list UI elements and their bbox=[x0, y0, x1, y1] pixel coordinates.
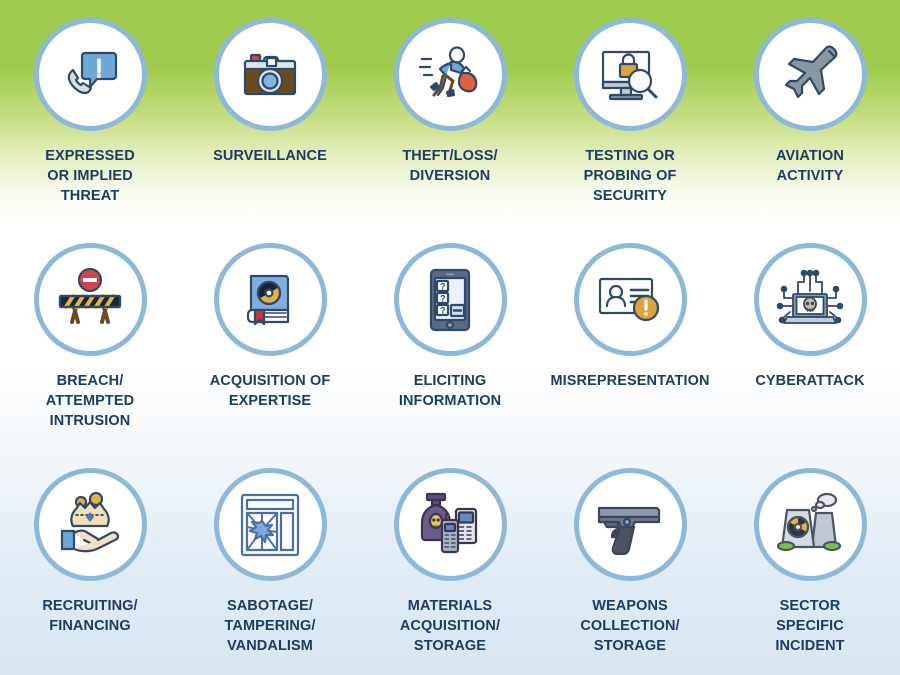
indicator-cell-recruiting-financing[interactable]: RECRUITING/ FINANCING bbox=[0, 450, 180, 675]
indicator-cell-sabotage-tampering-vandalism[interactable]: SABOTAGE/ TAMPERING/ VANDALISM bbox=[180, 450, 360, 675]
book-radiation-icon bbox=[234, 264, 306, 336]
laptop-skull-network-icon bbox=[774, 264, 846, 336]
indicator-label: EXPRESSED OR IMPLIED THREAT bbox=[45, 146, 135, 206]
svg-text:?: ? bbox=[440, 305, 446, 315]
icon-circle bbox=[394, 468, 507, 581]
nuclear-power-plant-icon bbox=[774, 489, 846, 561]
icon-circle bbox=[754, 18, 867, 131]
indicator-cell-cyberattack[interactable]: CYBERATTACK bbox=[720, 225, 900, 450]
icon-circle bbox=[34, 468, 147, 581]
indicator-label: ELICITING INFORMATION bbox=[399, 371, 501, 411]
indicator-grid: EXPRESSED OR IMPLIED THREAT SURVE bbox=[0, 0, 900, 675]
running-thief-with-bag-icon bbox=[414, 39, 486, 111]
poison-bottle-phone-radio-icon bbox=[414, 489, 486, 561]
indicator-label: BREACH/ ATTEMPTED INTRUSION bbox=[46, 371, 134, 431]
icon-circle bbox=[34, 18, 147, 131]
indicator-cell-breach-attempted-intrusion[interactable]: BREACH/ ATTEMPTED INTRUSION bbox=[0, 225, 180, 450]
indicator-label: MISREPRESENTATION bbox=[550, 371, 709, 391]
indicator-label: ACQUISITION OF EXPERTISE bbox=[210, 371, 331, 411]
tablet-question-marks-icon: ? ? ? bbox=[414, 264, 486, 336]
indicator-cell-theft-loss-diversion[interactable]: THEFT/LOSS/ DIVERSION bbox=[360, 0, 540, 225]
indicator-cell-aviation-activity[interactable]: AVIATION ACTIVITY bbox=[720, 0, 900, 225]
icon-circle bbox=[754, 468, 867, 581]
indicator-cell-acquisition-of-expertise[interactable]: ACQUISITION OF EXPERTISE bbox=[180, 225, 360, 450]
icon-circle bbox=[214, 243, 327, 356]
indicator-label: SECTOR SPECIFIC INCIDENT bbox=[775, 596, 844, 656]
icon-circle: ? ? ? bbox=[394, 243, 507, 356]
indicator-cell-materials-acquisition-storage[interactable]: MATERIALS ACQUISITION/ STORAGE bbox=[360, 450, 540, 675]
icon-circle bbox=[394, 18, 507, 131]
icon-circle bbox=[574, 18, 687, 131]
icon-circle bbox=[214, 468, 327, 581]
indicator-label: SURVEILLANCE bbox=[213, 146, 327, 166]
indicator-label: CYBERATTACK bbox=[755, 371, 864, 391]
indicator-cell-expressed-threat[interactable]: EXPRESSED OR IMPLIED THREAT bbox=[0, 0, 180, 225]
icon-circle bbox=[574, 243, 687, 356]
indicator-label: MATERIALS ACQUISITION/ STORAGE bbox=[400, 596, 500, 656]
indicator-cell-sector-specific-incident[interactable]: SECTOR SPECIFIC INCIDENT bbox=[720, 450, 900, 675]
indicator-cell-testing-probing-security[interactable]: TESTING OR PROBING OF SECURITY bbox=[540, 0, 720, 225]
suspicious-activity-poster: EXPRESSED OR IMPLIED THREAT SURVE bbox=[0, 0, 900, 675]
id-card-warning-icon bbox=[594, 264, 666, 336]
icon-circle bbox=[754, 243, 867, 356]
airplane-icon bbox=[774, 39, 846, 111]
indicator-label: SABOTAGE/ TAMPERING/ VANDALISM bbox=[225, 596, 316, 656]
indicator-label: THEFT/LOSS/ DIVERSION bbox=[402, 146, 497, 186]
hand-money-bag-icon bbox=[54, 489, 126, 561]
broken-window-icon bbox=[234, 489, 306, 561]
indicator-cell-surveillance[interactable]: SURVEILLANCE bbox=[180, 0, 360, 225]
indicator-label: TESTING OR PROBING OF SECURITY bbox=[584, 146, 677, 206]
indicator-label: AVIATION ACTIVITY bbox=[776, 146, 844, 186]
indicator-cell-misrepresentation[interactable]: MISREPRESENTATION bbox=[540, 225, 720, 450]
indicator-label: WEAPONS COLLECTION/ STORAGE bbox=[580, 596, 679, 656]
barricade-no-entry-icon bbox=[54, 264, 126, 336]
phone-speech-bubble-exclamation-icon bbox=[54, 39, 126, 111]
indicator-cell-weapons-collection-storage[interactable]: WEAPONS COLLECTION/ STORAGE bbox=[540, 450, 720, 675]
svg-text:?: ? bbox=[440, 281, 446, 291]
monitor-lock-magnifier-icon bbox=[594, 39, 666, 111]
svg-text:?: ? bbox=[440, 293, 446, 303]
handgun-icon bbox=[594, 489, 666, 561]
icon-circle bbox=[34, 243, 147, 356]
indicator-label: RECRUITING/ FINANCING bbox=[42, 596, 137, 636]
camera-icon bbox=[234, 39, 306, 111]
icon-circle bbox=[574, 468, 687, 581]
indicator-cell-eliciting-information[interactable]: ? ? ? ELICITING INFORMATION bbox=[360, 225, 540, 450]
icon-circle bbox=[214, 18, 327, 131]
